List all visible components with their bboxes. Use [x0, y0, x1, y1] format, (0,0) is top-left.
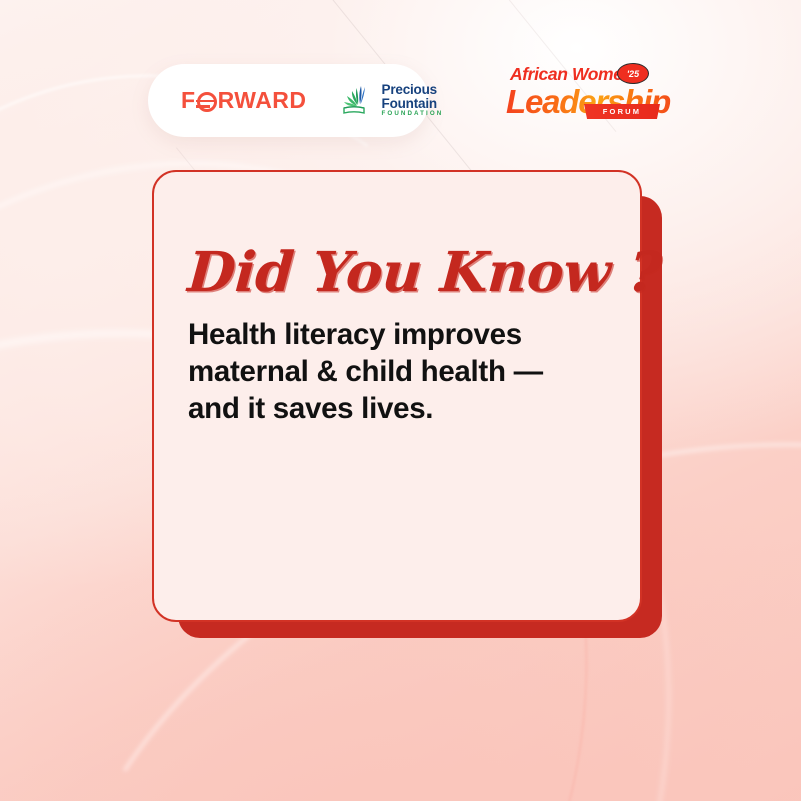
- partner-logo-bar: F RWARD Precious Fountain FOUNDATION: [148, 64, 429, 137]
- precious-fountain-wordmark: Precious Fountain FOUNDATION: [382, 83, 444, 117]
- precious-fountain-line1: Precious: [382, 83, 444, 97]
- card-headline: Did You Know ?: [186, 244, 616, 299]
- forward-logo-text-start: F: [181, 87, 196, 114]
- forward-logo: F RWARD: [181, 87, 307, 114]
- card-body-text: Health literacy improves maternal & chil…: [188, 317, 614, 428]
- awlf-year-badge: '25: [617, 63, 649, 84]
- precious-fountain-line2: Fountain: [382, 97, 444, 111]
- forward-logo-o-icon: [197, 92, 217, 112]
- forward-logo-text-end: RWARD: [218, 87, 307, 114]
- awlf-forum-ribbon: FORUM: [584, 104, 660, 119]
- leaf-icon: [341, 83, 377, 117]
- poster-canvas: F RWARD Precious Fountain FOUNDATION: [0, 0, 801, 801]
- awlf-logo: African Women '25 Leadership FORUM: [506, 66, 681, 122]
- card-content: Did You Know ? Health literacy improves …: [188, 244, 614, 428]
- info-card: Did You Know ? Health literacy improves …: [152, 170, 642, 622]
- awlf-top-line: African Women: [510, 66, 681, 84]
- precious-fountain-subtitle: FOUNDATION: [382, 111, 444, 117]
- precious-fountain-logo: Precious Fountain FOUNDATION: [341, 83, 444, 117]
